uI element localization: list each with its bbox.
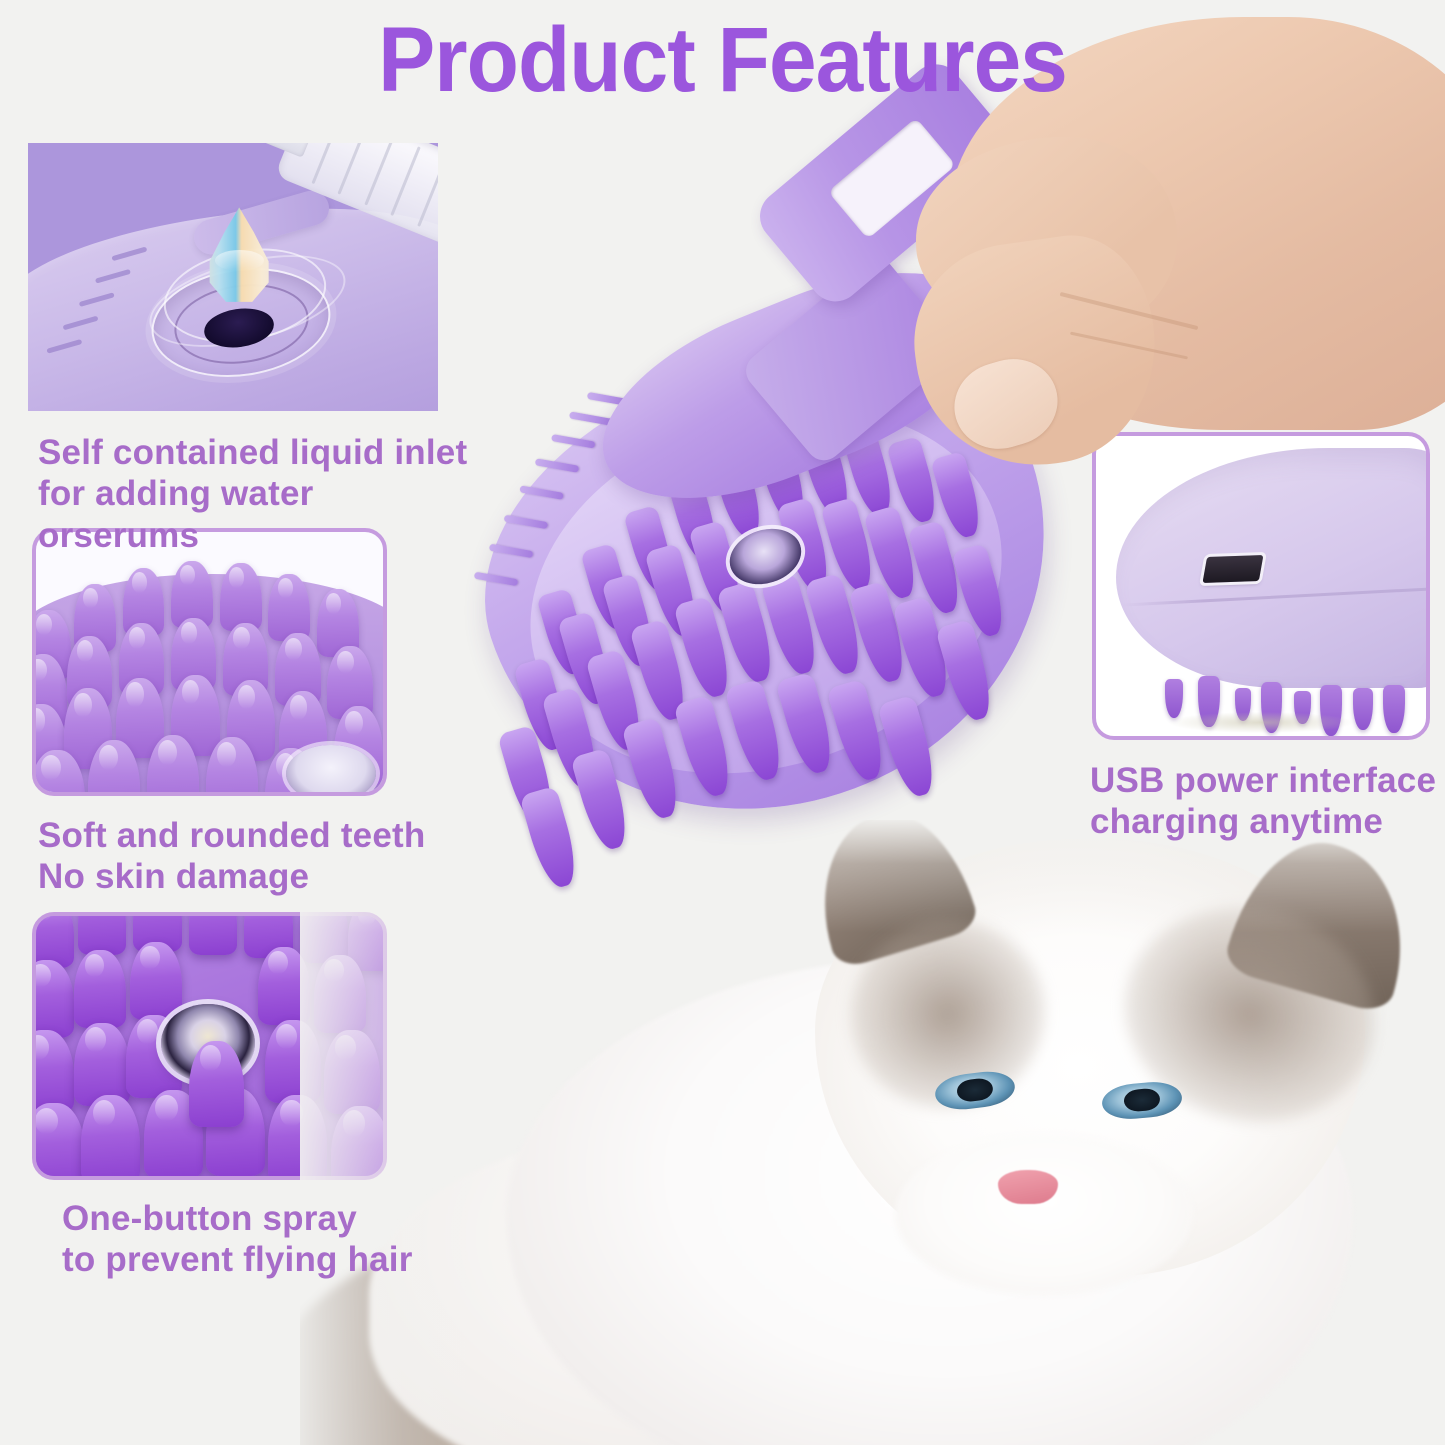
spray-nozzle [286, 745, 376, 796]
ragdoll-cat-photo [300, 820, 1445, 1445]
usb-port-icon [1202, 555, 1263, 582]
infographic-canvas: Product Features Self contained liquid i… [0, 0, 1445, 1445]
page-title: Product Features [51, 14, 1395, 106]
caption-one-button-spray: One-button spray to prevent flying hair [62, 1198, 462, 1281]
hand-holding-brush [905, 60, 1445, 490]
cat-nose [998, 1170, 1058, 1204]
caption-liquid-inlet: Self contained liquid inlet for adding w… [38, 432, 478, 556]
caption-usb-charging: USB power interface charging anytime [1090, 760, 1445, 843]
rounded-teeth-photo [32, 528, 387, 796]
caption-rounded-teeth: Soft and rounded teeth No skin damage [38, 815, 468, 898]
drop-shadow [1169, 712, 1354, 733]
cat-muzzle [895, 1133, 1193, 1296]
liquid-inlet-photo [28, 143, 438, 411]
